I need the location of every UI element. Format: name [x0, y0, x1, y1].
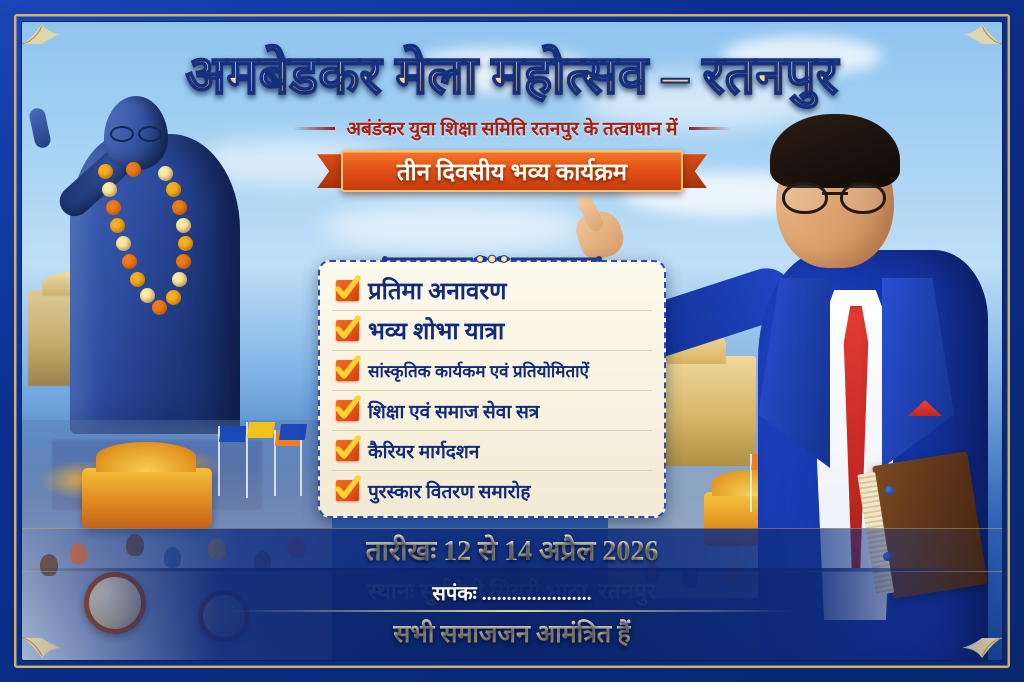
list-item-label: सांस्कृतिक कार्यकम एवं प्रतियोमिताऐं [368, 359, 589, 382]
poster-footer: सपंकः ...................... सभी समाजजन … [22, 568, 1002, 660]
footer-divider [232, 610, 792, 612]
event-date: तारीखः 12 से 14 अप्रैल 2026 [366, 531, 659, 569]
panel-ornament-divider [377, 250, 607, 268]
check-icon [336, 280, 359, 301]
list-item[interactable]: भव्य शोभा यात्रा [332, 311, 652, 351]
list-item-label: प्रतिमा अनावरण [368, 274, 507, 307]
subtitle-row: अबंडंकर युवा शिक्षा समिति रतनपुर के तत्व… [22, 115, 1002, 141]
list-item[interactable]: प्रतिमा अनावरण [332, 271, 652, 311]
page-title: अमबेडकर मेला महोत्सव – रतनपुर [22, 48, 1002, 105]
ribbon-body: तीन दिवसीय भव्य कार्यक्रम [341, 150, 683, 192]
program-item-list: प्रतिमा अनावरण भव्य शोभा यात्रा सांस्कृत… [332, 271, 652, 510]
check-icon [336, 440, 359, 461]
ribbon-banner: तीन दिवसीय भव्य कार्यक्रम [317, 150, 707, 192]
contact-line: सपंकः ...................... [432, 579, 591, 606]
subtitle-rule-left [293, 127, 335, 130]
check-icon [336, 480, 359, 501]
event-date-band: तारीखः 12 से 14 अप्रैल 2026 [22, 528, 1002, 572]
list-item[interactable]: पुरस्कार वितरण समारोह [332, 471, 652, 510]
list-item-label: पुरस्कार वितरण समारोह [368, 478, 530, 504]
list-item-label: शिक्षा एवं समाज सेवा सत्र [368, 398, 539, 424]
program-list-panel: प्रतिमा अनावरण भव्य शोभा यात्रा सांस्कृत… [318, 260, 666, 518]
poster-subtitle: अबंडंकर युवा शिक्षा समिति रतनपुर के तत्व… [346, 115, 677, 141]
list-item-label: कैरियर मार्गदशन [368, 438, 479, 464]
list-item[interactable]: सांस्कृतिक कार्यकम एवं प्रतियोमिताऐं [332, 351, 652, 391]
ribbon-label: तीन दिवसीय भव्य कार्यक्रम [397, 155, 627, 188]
subtitle-rule-right [689, 127, 731, 130]
event-poster: अमबेडकर मेला महोत्सव – रतनपुर अबंडंकर यु… [0, 0, 1024, 682]
list-item[interactable]: शिक्षा एवं समाज सेवा सत्र [332, 391, 652, 431]
invitation-line: सभी समाजजन आमंत्रित हैं [393, 616, 630, 650]
check-icon [336, 400, 359, 421]
list-item[interactable]: कैरियर मार्गदशन [332, 431, 652, 471]
check-icon [336, 320, 359, 341]
poster-headline-block: अमबेडकर मेला महोत्सव – रतनपुर अबंडंकर यु… [22, 48, 1002, 192]
check-icon [336, 360, 359, 381]
list-item-label: भव्य शोभा यात्रा [368, 314, 504, 347]
